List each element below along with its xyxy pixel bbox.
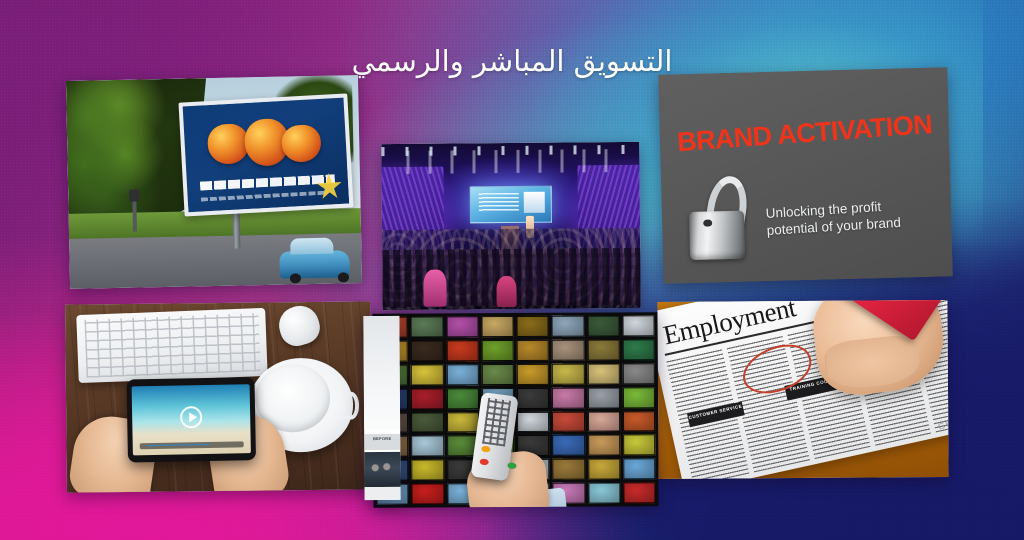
- coffee-liquid: [262, 371, 322, 426]
- tv-screen-cell: [411, 388, 443, 409]
- card-footer: [365, 487, 401, 500]
- tv-screen-cell: [482, 364, 514, 385]
- tv-screen-cell: [552, 435, 584, 456]
- tv-screen-cell: [411, 412, 443, 433]
- tv-screen-cell: [623, 482, 655, 503]
- tv-screen-cell: [517, 411, 549, 432]
- apples-group: [206, 116, 325, 171]
- card-tv-wall-photo[interactable]: [372, 312, 658, 507]
- card-billboard-photo[interactable]: [66, 75, 362, 289]
- tv-screen-cell: [411, 436, 443, 457]
- phone-screen: [132, 384, 251, 456]
- tv-screen-cell: [411, 316, 443, 337]
- tv-screen-cell: [446, 364, 478, 385]
- audience-member-foreground: [496, 276, 517, 308]
- apple-icon: [206, 123, 250, 165]
- open-padlock-icon: [684, 177, 753, 262]
- card-employment-newspaper[interactable]: Employment CUSTOMER SERVICE TRAINING COU…: [657, 300, 948, 479]
- traffic-light-icon: [133, 198, 138, 231]
- tv-screen-cell: [481, 316, 513, 337]
- tv-screen-cell: [552, 411, 584, 432]
- keyboard-icon: [76, 307, 268, 382]
- fingers: [822, 333, 921, 392]
- tv-screen-cell: [412, 460, 444, 481]
- tv-screen-cell: [481, 340, 513, 361]
- hidden-card-content: BEFORE: [363, 316, 400, 500]
- tv-screen-cell: [587, 315, 619, 336]
- car-icon: [280, 250, 351, 278]
- tv-screen-cell: [447, 412, 479, 433]
- tv-screen-cell: [588, 483, 620, 504]
- tv-screen-cell: [623, 435, 655, 456]
- tv-screen-cell: [517, 316, 549, 337]
- billboard-headline: [200, 174, 336, 191]
- tv-screen-cell: [517, 364, 549, 385]
- smartphone: [126, 377, 256, 462]
- newspaper-scene: Employment CUSTOMER SERVICE TRAINING COU…: [657, 300, 948, 479]
- tv-screen-cell: [588, 435, 620, 456]
- video-progress-bar: [140, 441, 244, 449]
- card-upper-blank: [363, 316, 400, 430]
- tv-screen-cell: [552, 363, 584, 384]
- card-partially-hidden[interactable]: BEFORE: [363, 316, 400, 500]
- slide-stage: التسويق المباشر والرسمي: [0, 0, 1024, 540]
- tv-screen-cell: [446, 388, 478, 409]
- tv-screen-cell: [623, 411, 655, 432]
- card-mobile-video-photo[interactable]: [65, 301, 372, 492]
- tv-screen-cell: [623, 459, 655, 480]
- tv-screen-cell: [622, 315, 654, 336]
- play-button-icon: [180, 406, 202, 428]
- apple-icon: [281, 124, 322, 163]
- before-label: BEFORE: [364, 434, 400, 451]
- tv-screen-cell: [623, 387, 655, 408]
- tv-screen-cell: [622, 339, 654, 360]
- desk-scene: [65, 301, 372, 492]
- billboard-panel: [178, 93, 353, 217]
- tv-screen-cell: [552, 340, 584, 361]
- card-brand-activation[interactable]: BRAND ACTIVATION Unlocking the profit po…: [658, 67, 952, 283]
- tv-screen-cell: [588, 459, 620, 480]
- billboard-subtext: [200, 190, 326, 201]
- tv-screen-cell: [587, 339, 619, 360]
- tv-screen-cell: [552, 387, 584, 408]
- tv-screen-cell: [411, 364, 443, 385]
- tv-screen-cell: [517, 340, 549, 361]
- tv-screen-cell: [623, 363, 655, 384]
- card-conference-photo[interactable]: [381, 142, 640, 310]
- tv-screen-cell: [517, 387, 549, 408]
- tv-wall-scene: [372, 312, 658, 507]
- tv-screen-cell: [588, 411, 620, 432]
- brand-activation-content: BRAND ACTIVATION Unlocking the profit po…: [658, 67, 952, 283]
- stage-screen: [469, 186, 552, 223]
- tv-screen-cell: [446, 316, 478, 337]
- tv-screen-cell: [587, 363, 619, 384]
- before-label-text: BEFORE: [364, 434, 400, 443]
- billboard-scene: [66, 75, 362, 289]
- tv-screen-cell: [587, 387, 619, 408]
- tv-screen-cell: [552, 316, 584, 337]
- conference-scene: [381, 142, 640, 310]
- tv-screen-cell: [412, 484, 444, 505]
- padlock-body: [689, 211, 745, 261]
- tv-screen-cell: [446, 340, 478, 361]
- tv-screen-cell: [553, 459, 585, 480]
- padlock-keyhole: [703, 219, 712, 227]
- tv-screen-cell: [411, 340, 443, 361]
- audience-member-foreground: [424, 270, 448, 307]
- card-thumbnail-photo: [364, 452, 400, 487]
